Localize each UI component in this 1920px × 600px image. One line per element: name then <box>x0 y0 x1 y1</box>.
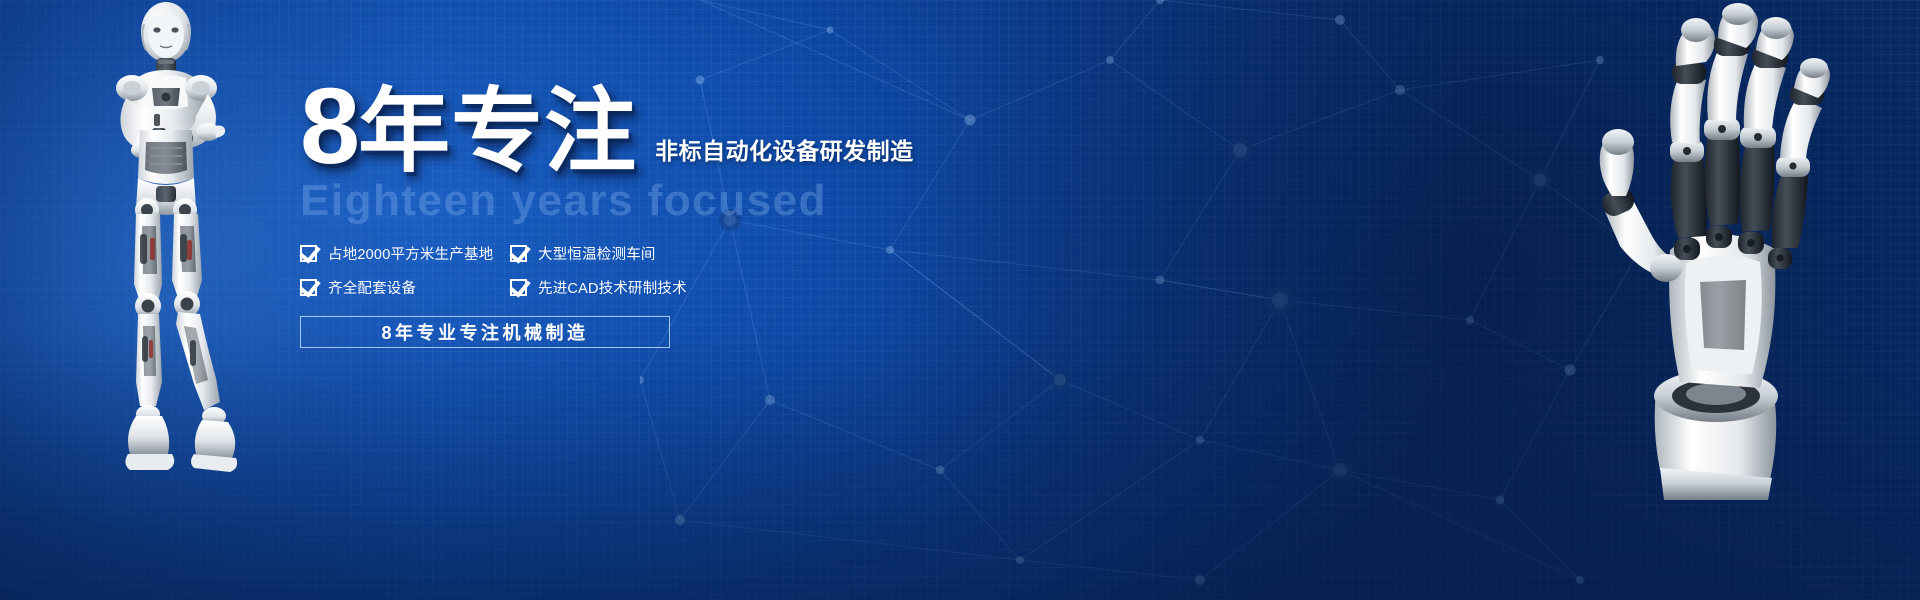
feature-list: 占地2000平方米生产基地 大型恒温检测车间 齐全配套设备 先进CAD技术研制技… <box>300 243 860 298</box>
feature-label: 占地2000平方米生产基地 <box>328 243 493 264</box>
list-item: 齐全配套设备 <box>300 277 510 298</box>
list-item: 大型恒温检测车间 <box>510 243 720 264</box>
checkbox-checked-icon <box>510 279 527 296</box>
tagline-text: 8年专业专注机械制造 <box>381 319 588 345</box>
humanoid-robot-figure <box>68 2 268 492</box>
watermark-text: Eighteen years focused <box>300 176 860 227</box>
headline-subtitle: 非标自动化设备研发制造 <box>655 132 914 180</box>
headline-row: 8年专注 非标自动化设备研发制造 <box>300 72 860 180</box>
banner-content: 8年专注 非标自动化设备研发制造 Eighteen years focused … <box>300 72 860 348</box>
checkbox-checked-icon <box>510 245 527 262</box>
headline-number: 8 <box>300 65 358 186</box>
page-title: 8年专注 <box>300 72 637 180</box>
checkbox-checked-icon <box>300 245 317 262</box>
feature-label: 大型恒温检测车间 <box>538 243 656 264</box>
feature-label: 先进CAD技术研制技术 <box>538 277 687 298</box>
hero-banner: 8年专注 非标自动化设备研发制造 Eighteen years focused … <box>0 0 1920 600</box>
robotic-hand-figure <box>1540 0 1900 500</box>
list-item: 占地2000平方米生产基地 <box>300 243 510 264</box>
list-item: 先进CAD技术研制技术 <box>510 277 720 298</box>
tagline-box: 8年专业专注机械制造 <box>300 316 670 348</box>
checkbox-checked-icon <box>300 279 317 296</box>
feature-label: 齐全配套设备 <box>328 277 416 298</box>
headline-text: 年专注 <box>358 81 637 183</box>
